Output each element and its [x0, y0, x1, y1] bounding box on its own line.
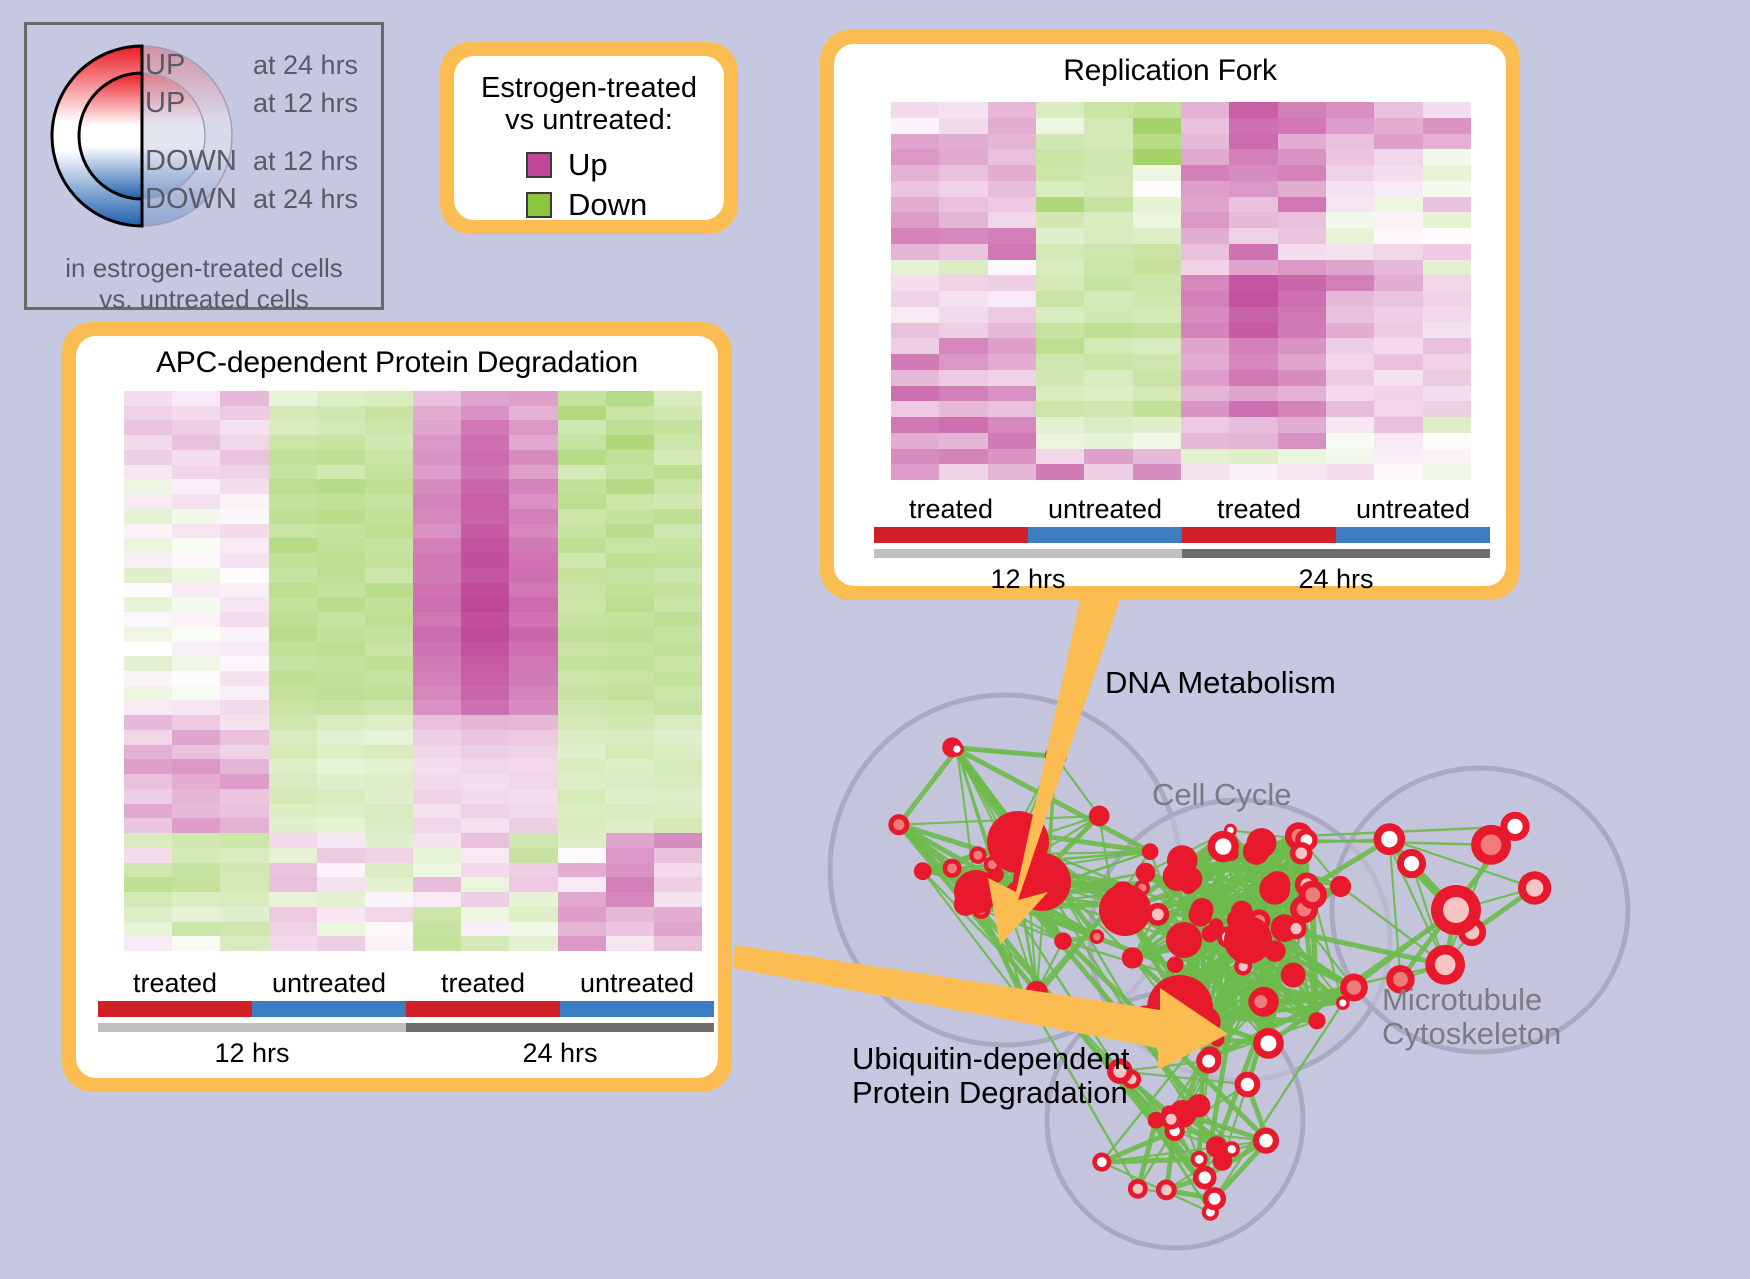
heatmap-cell — [365, 745, 413, 760]
network-node[interactable] — [1099, 884, 1151, 936]
heatmap-cell — [891, 417, 939, 433]
heatmap-cell — [172, 435, 220, 450]
heatmap-cell — [558, 730, 606, 745]
network-node[interactable] — [1054, 932, 1072, 950]
treatment-swatch — [1182, 527, 1336, 543]
heatmap-cell — [1181, 307, 1229, 323]
heatmap-cell — [461, 465, 509, 480]
heatmap-cell — [654, 907, 702, 922]
heatmap-cell — [220, 789, 268, 804]
heatmap-cell — [1374, 149, 1422, 165]
heatmap-cell — [461, 892, 509, 907]
heatmap-cell — [891, 370, 939, 386]
heatmap-cell — [269, 435, 317, 450]
heatmap-cell — [939, 149, 987, 165]
heatmap-cell — [1133, 354, 1181, 370]
heatmap-cell — [124, 922, 172, 937]
network-node[interactable] — [1207, 831, 1239, 863]
legend-spacer — [145, 125, 383, 145]
heatmap-cell — [509, 774, 557, 789]
network-node[interactable] — [1156, 1179, 1177, 1200]
network-node[interactable] — [1253, 1127, 1279, 1153]
legend-key: UP — [145, 49, 253, 82]
heatmap-cell — [939, 134, 987, 150]
heatmap-cell — [220, 745, 268, 760]
network-node[interactable] — [1340, 974, 1368, 1002]
heatmap-cell — [558, 597, 606, 612]
heatmap-cell — [413, 700, 461, 715]
heatmap-cell — [1036, 118, 1084, 134]
heatmap-cell — [558, 700, 606, 715]
heatmap-cell — [1326, 323, 1374, 339]
heatmap-cell — [365, 922, 413, 937]
heatmap-cell — [1084, 370, 1132, 386]
legend-row-down-12: DOWN at 12 hrs — [145, 145, 383, 183]
down-swatch — [526, 192, 552, 218]
heatmap-cell — [461, 627, 509, 642]
heatmap-cell — [1229, 354, 1277, 370]
network-node[interactable] — [1397, 849, 1426, 878]
heatmap-cell — [654, 759, 702, 774]
heatmap-cell — [509, 745, 557, 760]
estrogen-heading-line2: vs untreated: — [454, 104, 724, 136]
heatmap-cell — [461, 833, 509, 848]
heatmap-cell — [317, 656, 365, 671]
network-node[interactable] — [1518, 871, 1551, 904]
heatmap-cell — [124, 848, 172, 863]
heatmap-cell — [509, 450, 557, 465]
network-node[interactable] — [1148, 1112, 1165, 1129]
network-node[interactable] — [1019, 1000, 1036, 1017]
network-node[interactable] — [1122, 947, 1143, 968]
network-node[interactable] — [1298, 881, 1327, 910]
heatmap-cell — [988, 165, 1036, 181]
heatmap-cell — [1278, 118, 1326, 134]
heatmap-cell — [172, 804, 220, 819]
network-node[interactable] — [1206, 1136, 1227, 1157]
network-node[interactable] — [1224, 916, 1272, 964]
heatmap-cell — [220, 730, 268, 745]
network-node[interactable] — [1253, 1028, 1284, 1059]
heatmap-cell — [509, 538, 557, 553]
network-node[interactable] — [950, 742, 964, 756]
up-down-legend-rows: UP at 24 hrs UP at 12 hrs DOWN at 12 hrs… — [145, 49, 383, 221]
heatmap-cell — [124, 774, 172, 789]
heatmap-cell — [220, 479, 268, 494]
heatmap-cell — [988, 401, 1036, 417]
heatmap-cell — [220, 818, 268, 833]
heatmap-cell — [1229, 291, 1277, 307]
heatmap-cell — [558, 583, 606, 598]
heatmap-cell — [269, 494, 317, 509]
network-node[interactable] — [1431, 885, 1481, 935]
legend-footer-line1: in estrogen-treated cells — [27, 253, 381, 284]
heatmap-cell — [124, 612, 172, 627]
legend-key: DOWN — [145, 183, 253, 216]
heatmap-cell — [220, 700, 268, 715]
heatmap-cell — [939, 433, 987, 449]
heatmap-cell — [220, 804, 268, 819]
heatmap-cell — [1326, 449, 1374, 465]
replication-fork-title: Replication Fork — [834, 54, 1506, 88]
heatmap-cell — [1084, 433, 1132, 449]
heatmap-cell — [1181, 118, 1229, 134]
network-node[interactable] — [1209, 918, 1224, 933]
heatmap-cell — [124, 465, 172, 480]
heatmap-cell — [317, 494, 365, 509]
heatmap-cell — [1326, 181, 1374, 197]
heatmap-cell — [269, 936, 317, 951]
heatmap-cell — [606, 465, 654, 480]
heatmap-cell — [365, 715, 413, 730]
heatmap-cell — [1133, 181, 1181, 197]
heatmap-cell — [606, 774, 654, 789]
heatmap-cell — [558, 715, 606, 730]
heatmap-cell — [1374, 275, 1422, 291]
heatmap-cell — [413, 656, 461, 671]
heatmap-cell — [365, 509, 413, 524]
heatmap-cell — [606, 818, 654, 833]
heatmap-cell — [269, 789, 317, 804]
heatmap-cell — [509, 922, 557, 937]
heatmap-cell — [606, 892, 654, 907]
treatment-color-bar — [98, 1001, 714, 1017]
heatmap-cell — [654, 745, 702, 760]
heatmap-cell — [317, 391, 365, 406]
heatmap-cell — [1374, 307, 1422, 323]
heatmap-cell — [1326, 134, 1374, 150]
heatmap-cell — [654, 936, 702, 951]
treatment-labels: treateduntreatedtreateduntreated — [98, 968, 714, 999]
heatmap-cell — [365, 479, 413, 494]
heatmap-cell — [124, 597, 172, 612]
heatmap-cell — [317, 907, 365, 922]
heatmap-cell — [269, 686, 317, 701]
network-node[interactable] — [1191, 1151, 1208, 1168]
heatmap-cell — [317, 627, 365, 642]
heatmap-cell — [365, 568, 413, 583]
heatmap-cell — [461, 715, 509, 730]
heatmap-cell — [124, 715, 172, 730]
heatmap-cell — [413, 818, 461, 833]
heatmap-cell — [172, 479, 220, 494]
heatmap-cell — [172, 774, 220, 789]
heatmap-cell — [939, 197, 987, 213]
heatmap-cell — [1374, 386, 1422, 402]
network-node[interactable] — [1187, 1094, 1210, 1117]
heatmap-cell — [1278, 291, 1326, 307]
heatmap-cell — [172, 686, 220, 701]
treatment-swatch — [874, 527, 1028, 543]
heatmap-cell — [1229, 370, 1277, 386]
heatmap-cell — [269, 656, 317, 671]
heatmap-cell — [1036, 433, 1084, 449]
heatmap-cell — [654, 568, 702, 583]
heatmap-cell — [413, 509, 461, 524]
heatmap-cell — [606, 450, 654, 465]
heatmap-cell — [172, 583, 220, 598]
heatmap-cell — [461, 700, 509, 715]
heatmap-cell — [220, 848, 268, 863]
network-node[interactable] — [1330, 876, 1351, 897]
cluster-label-cell-cycle: Cell Cycle — [1152, 778, 1292, 812]
heatmap-cell — [654, 465, 702, 480]
heatmap-cell — [317, 833, 365, 848]
heatmap-cell — [1084, 260, 1132, 276]
heatmap-cell — [413, 406, 461, 421]
heatmap-cell — [1278, 449, 1326, 465]
network-node[interactable] — [1281, 963, 1306, 988]
heatmap-cell — [461, 656, 509, 671]
heatmap-cell — [172, 524, 220, 539]
heatmap-cell — [988, 386, 1036, 402]
network-node[interactable] — [1264, 871, 1290, 897]
heatmap-cell — [939, 323, 987, 339]
network-node[interactable] — [954, 870, 998, 914]
heatmap-cell — [1278, 307, 1326, 323]
heatmap-cell — [939, 307, 987, 323]
heatmap-cell — [220, 612, 268, 627]
heatmap-cell — [269, 627, 317, 642]
heatmap-cell — [413, 568, 461, 583]
heatmap-cell — [1326, 102, 1374, 118]
heatmap-cell — [461, 597, 509, 612]
heatmap-cell — [124, 494, 172, 509]
replication-fork-heatmap — [891, 102, 1471, 480]
heatmap-cell — [509, 612, 557, 627]
ubiquitin-line2: Protein Degradation — [852, 1076, 1130, 1110]
heatmap-cell — [269, 745, 317, 760]
network-node[interactable] — [1142, 843, 1159, 860]
apc-degradation-title: APC-dependent Protein Degradation — [76, 346, 718, 380]
heatmap-cell — [1374, 338, 1422, 354]
heatmap-cell — [509, 671, 557, 686]
network-node[interactable] — [914, 862, 932, 880]
heatmap-cell — [461, 907, 509, 922]
heatmap-cell — [1133, 118, 1181, 134]
heatmap-cell — [1423, 197, 1471, 213]
heatmap-cell — [124, 656, 172, 671]
heatmap-cell — [1278, 197, 1326, 213]
heatmap-cell — [1181, 370, 1229, 386]
heatmap-cell — [1181, 212, 1229, 228]
heatmap-cell — [1229, 212, 1277, 228]
network-node[interactable] — [1147, 975, 1213, 1041]
heatmap-cell — [558, 568, 606, 583]
heatmap-cell — [1133, 464, 1181, 480]
heatmap-cell — [939, 291, 987, 307]
heatmap-cell — [220, 671, 268, 686]
network-node[interactable] — [1308, 1012, 1325, 1029]
heatmap-cell — [1229, 102, 1277, 118]
heatmap-cell — [172, 568, 220, 583]
heatmap-cell — [124, 391, 172, 406]
heatmap-cell — [1278, 275, 1326, 291]
heatmap-cell — [606, 435, 654, 450]
heatmap-cell — [413, 848, 461, 863]
heatmap-cell — [988, 354, 1036, 370]
heatmap-cell — [509, 907, 557, 922]
legend-row-down-24: DOWN at 24 hrs — [145, 183, 383, 221]
heatmap-cell — [413, 759, 461, 774]
network-node[interactable] — [1235, 1072, 1261, 1098]
heatmap-cell — [124, 700, 172, 715]
heatmap-cell — [365, 553, 413, 568]
heatmap-cell — [172, 700, 220, 715]
heatmap-cell — [413, 553, 461, 568]
heatmap-cell — [124, 479, 172, 494]
heatmap-cell — [124, 745, 172, 760]
heatmap-cell — [988, 433, 1036, 449]
heatmap-cell — [124, 420, 172, 435]
heatmap-cell — [1229, 464, 1277, 480]
heatmap-cell — [509, 833, 557, 848]
heatmap-cell — [988, 244, 1036, 260]
network-node[interactable] — [1193, 1166, 1217, 1190]
heatmap-cell — [461, 877, 509, 892]
heatmap-cell — [1181, 464, 1229, 480]
network-node[interactable] — [1089, 806, 1110, 827]
heatmap-cell — [317, 759, 365, 774]
heatmap-cell — [606, 494, 654, 509]
heatmap-cell — [988, 338, 1036, 354]
heatmap-cell — [606, 524, 654, 539]
heatmap-cell — [606, 730, 654, 745]
heatmap-cell — [317, 804, 365, 819]
network-node[interactable] — [969, 846, 987, 864]
heatmap-cell — [1278, 228, 1326, 244]
heatmap-cell — [1084, 244, 1132, 260]
network-node[interactable] — [999, 893, 1019, 913]
heatmap-cell — [1036, 228, 1084, 244]
network-node[interactable] — [1167, 956, 1184, 973]
heatmap-cell — [220, 435, 268, 450]
heatmap-cell — [269, 420, 317, 435]
estrogen-heading-line1: Estrogen-treated — [454, 72, 724, 104]
network-node[interactable] — [1090, 929, 1105, 944]
heatmap-cell — [1036, 323, 1084, 339]
heatmap-cell — [1133, 417, 1181, 433]
network-node[interactable] — [1045, 745, 1067, 767]
heatmap-cell — [365, 774, 413, 789]
heatmap-cell — [1326, 291, 1374, 307]
heatmap-cell — [509, 877, 557, 892]
heatmap-cell — [1229, 417, 1277, 433]
heatmap-cell — [1084, 197, 1132, 213]
heatmap-cell — [317, 597, 365, 612]
network-node[interactable] — [1189, 903, 1213, 927]
heatmap-cell — [558, 922, 606, 937]
heatmap-cell — [461, 730, 509, 745]
network-node[interactable] — [1136, 863, 1156, 883]
network-node[interactable] — [1166, 922, 1202, 958]
heatmap-cell — [317, 420, 365, 435]
heatmap-cell — [1036, 149, 1084, 165]
heatmap-cell — [558, 833, 606, 848]
heatmap-cell — [317, 642, 365, 657]
network-node[interactable] — [1092, 1153, 1111, 1172]
heatmap-cell — [509, 804, 557, 819]
heatmap-cell — [220, 627, 268, 642]
heatmap-cell — [269, 642, 317, 657]
heatmap-cell — [124, 863, 172, 878]
network-node[interactable] — [1196, 1048, 1221, 1073]
heatmap-cell — [317, 700, 365, 715]
heatmap-cell — [891, 307, 939, 323]
heatmap-cell — [1278, 165, 1326, 181]
heatmap-cell — [365, 700, 413, 715]
heatmap-cell — [988, 291, 1036, 307]
network-node[interactable] — [888, 814, 909, 835]
heatmap-cell — [1374, 228, 1422, 244]
heatmap-cell — [269, 833, 317, 848]
heatmap-cell — [606, 833, 654, 848]
heatmap-cell — [1036, 401, 1084, 417]
heatmap-cell — [654, 863, 702, 878]
heatmap-cell — [1036, 449, 1084, 465]
heatmap-cell — [1084, 134, 1132, 150]
heatmap-cell — [1374, 464, 1422, 480]
heatmap-cell — [654, 612, 702, 627]
heatmap-cell — [172, 420, 220, 435]
heatmap-cell — [988, 228, 1036, 244]
treatment-swatch — [252, 1001, 406, 1017]
heatmap-cell — [558, 745, 606, 760]
network-node[interactable] — [943, 859, 962, 878]
heatmap-cell — [606, 509, 654, 524]
heatmap-cell — [1423, 134, 1471, 150]
heatmap-cell — [172, 936, 220, 951]
estrogen-legend-heading: Estrogen-treated vs untreated: — [454, 72, 724, 137]
down-label: Down — [568, 187, 647, 223]
network-node[interactable] — [1013, 853, 1071, 911]
heatmap-cell — [891, 228, 939, 244]
network-node[interactable] — [1248, 989, 1273, 1014]
heatmap-cell — [172, 759, 220, 774]
heatmap-cell — [988, 149, 1036, 165]
heatmap-cell — [220, 583, 268, 598]
heatmap-cell — [413, 686, 461, 701]
network-node[interactable] — [1178, 867, 1203, 892]
network-node[interactable] — [1026, 981, 1048, 1003]
heatmap-cell — [939, 449, 987, 465]
heatmap-cell — [606, 700, 654, 715]
network-node[interactable] — [1374, 823, 1406, 855]
heatmap-cell — [1181, 102, 1229, 118]
network-node[interactable] — [1203, 1187, 1226, 1210]
heatmap-cell — [891, 165, 939, 181]
heatmap-cell — [172, 465, 220, 480]
heatmap-cell — [1423, 291, 1471, 307]
network-node[interactable] — [1290, 842, 1313, 865]
heatmap-cell — [1326, 307, 1374, 323]
network-node[interactable] — [1243, 838, 1269, 864]
heatmap-cell — [558, 877, 606, 892]
network-node[interactable] — [1500, 812, 1529, 841]
heatmap-cell — [654, 848, 702, 863]
network-node[interactable] — [1128, 1179, 1148, 1199]
heatmap-cell — [1181, 197, 1229, 213]
heatmap-cell — [988, 118, 1036, 134]
network-node[interactable] — [1425, 945, 1465, 985]
heatmap-cell — [1229, 260, 1277, 276]
heatmap-cell — [317, 922, 365, 937]
heatmap-cell — [1423, 181, 1471, 197]
heatmap-cell — [124, 936, 172, 951]
heatmap-cell — [172, 789, 220, 804]
heatmap-cell — [124, 671, 172, 686]
heatmap-cell — [1181, 260, 1229, 276]
